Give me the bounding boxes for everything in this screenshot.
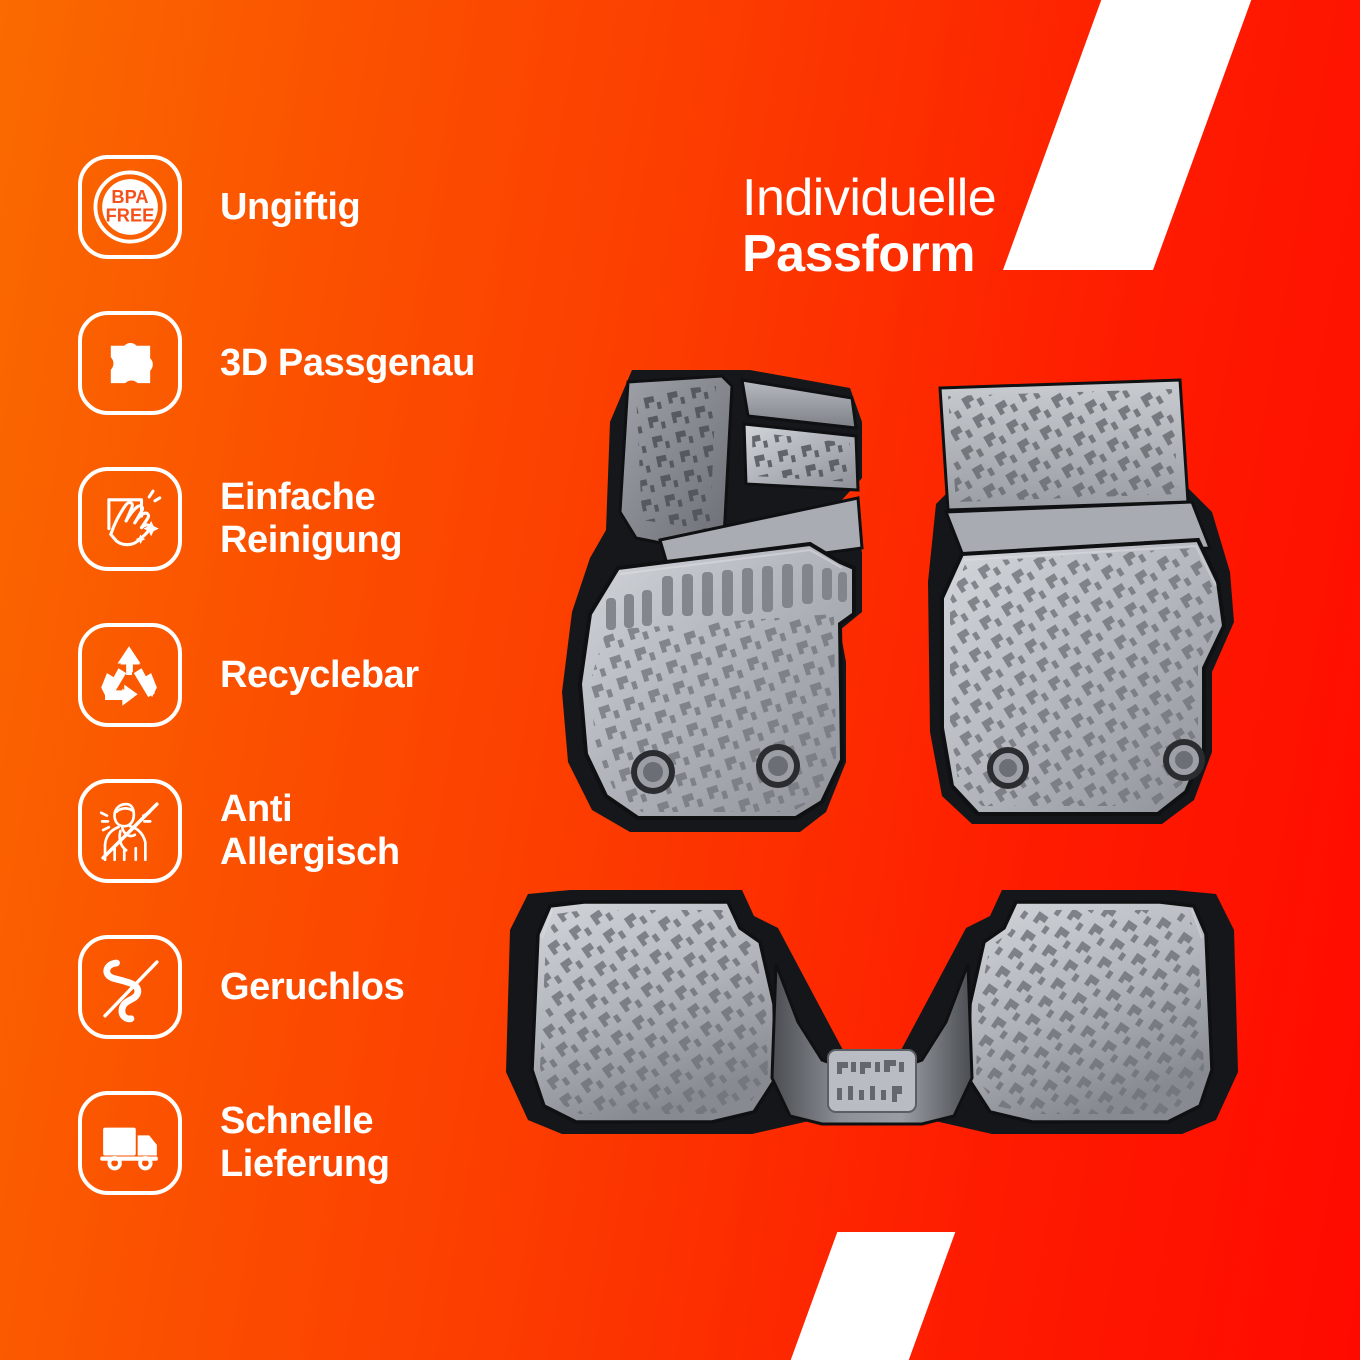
promo-canvas: BPA FREE Ungiftig 3D Passgenau	[0, 0, 1360, 1360]
rear-floor-mat	[492, 872, 1252, 1154]
driver-floor-mat	[510, 362, 890, 842]
product-image-group	[0, 0, 1360, 1360]
passenger-floor-mat	[912, 372, 1252, 842]
